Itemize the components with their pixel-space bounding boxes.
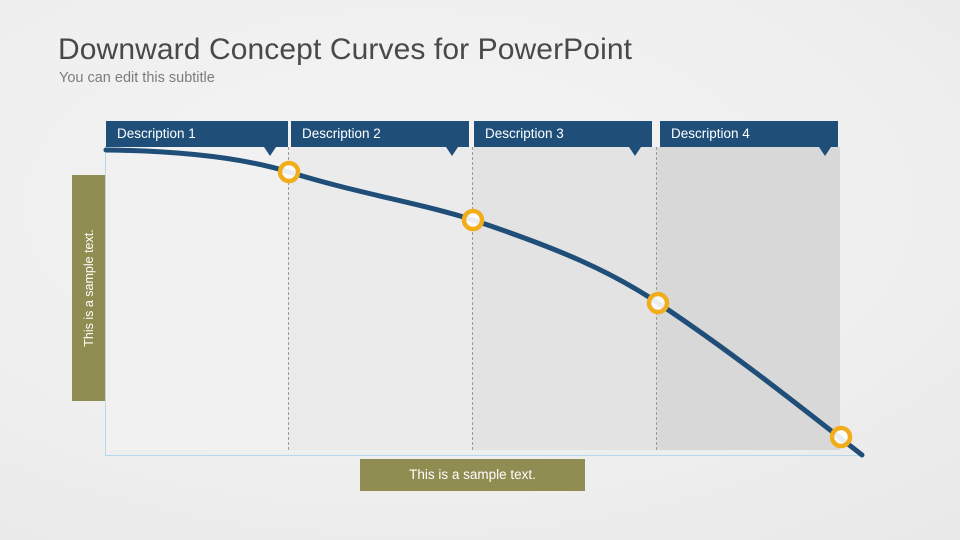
column-header-4[interactable]: Description 4 (660, 121, 838, 147)
column-header-tail-1 (264, 147, 276, 156)
column-header-2[interactable]: Description 2 (291, 121, 469, 147)
column-header-3[interactable]: Description 3 (474, 121, 652, 147)
page-title: Downward Concept Curves for PowerPoint (58, 33, 632, 67)
y-axis-label[interactable]: This is a sample text. (72, 175, 105, 401)
column-header-tail-2 (446, 147, 458, 156)
column-header-1[interactable]: Description 1 (106, 121, 288, 147)
column-header-tail-4 (819, 147, 831, 156)
chart-frame (105, 146, 862, 456)
y-axis-label-text: This is a sample text. (82, 229, 96, 346)
slide-canvas: Downward Concept Curves for PowerPoint Y… (0, 0, 960, 540)
page-subtitle: You can edit this subtitle (59, 70, 215, 86)
column-header-tail-3 (629, 147, 641, 156)
x-axis-label[interactable]: This is a sample text. (360, 459, 585, 491)
